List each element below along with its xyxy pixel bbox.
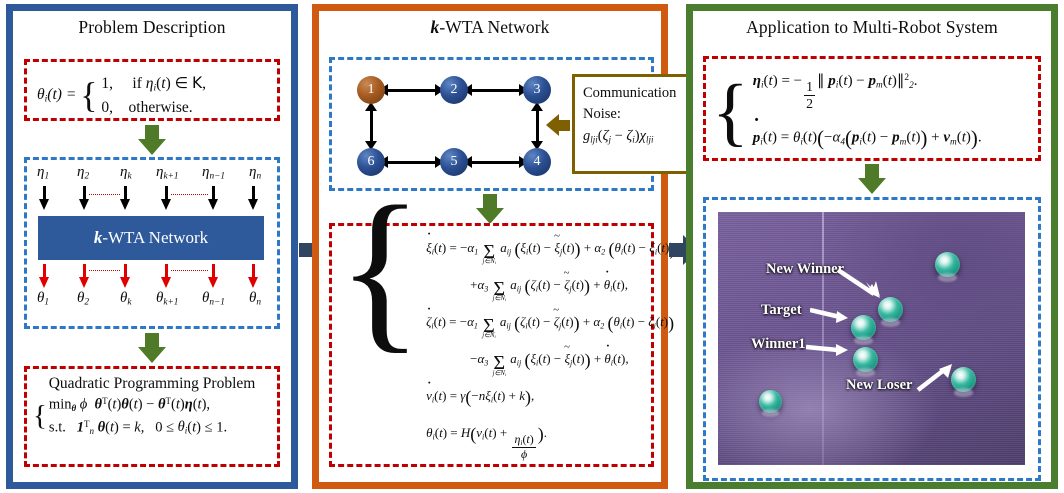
pointer-arrow-target xyxy=(810,306,854,326)
figure-canvas: Problem Description θi(t) = { 1, if ηi(t… xyxy=(0,0,1064,493)
input-dots-2 xyxy=(171,194,208,195)
dynamics-eq-2b: −α3 Σj∈Ni aij (ξi(t) − ξj(t)) + θi(t), xyxy=(470,347,675,377)
input-symbol-5: ηn−1 xyxy=(202,164,225,182)
photo-label-new-winner: New Winner xyxy=(766,261,844,278)
application-eq-1: ηi(t) = −12∥ pi(t) − pm(t)∥22. xyxy=(753,69,982,111)
output-symbol-6: θn xyxy=(249,290,261,308)
photo-label-winner1: Winner1 xyxy=(751,336,806,353)
panel-kwta-network: k-WTA Network 1 xyxy=(312,4,668,489)
theta-case-2: 0, otherwise. xyxy=(101,99,206,117)
edge-2-3 xyxy=(469,89,522,92)
output-symbol-2: θ2 xyxy=(77,290,89,308)
input-symbol-1: η1 xyxy=(37,164,49,182)
input-arrow-6 xyxy=(248,186,259,210)
input-arrow-1 xyxy=(39,186,50,210)
qp-objective: minθ ϕ θT(t)θ(t) − θT(t)η(t), xyxy=(49,396,227,414)
noise-formula: glji(ζj − ζi)χlji xyxy=(583,128,699,145)
flow-arrow-down-1 xyxy=(138,125,166,155)
input-arrow-5 xyxy=(208,186,219,210)
input-symbol-6: ηn xyxy=(249,164,261,182)
photo-label-target: Target xyxy=(761,302,802,319)
dynamics-eq-2: ζi(t) = −α1 Σj∈Ni aij (ζi(t) − ζj(t)) + … xyxy=(426,310,675,340)
kwta-block-label: k-WTA Network xyxy=(94,228,208,248)
panel-network-title: k-WTA Network xyxy=(319,17,661,38)
application-brace-icon: { xyxy=(712,93,749,131)
edge-1-2 xyxy=(385,89,438,92)
robot-top-right xyxy=(935,252,960,277)
theta-case-1: 1, if ηi(t) ∈ 𝖪, xyxy=(101,74,206,94)
theta-definition-box: θi(t) = { 1, if ηi(t) ∈ 𝖪, 0, otherwise. xyxy=(24,59,280,121)
edge-6-5 xyxy=(385,161,438,164)
robot-bottom-left xyxy=(759,390,782,413)
graph-node-3[interactable]: 3 xyxy=(523,76,551,104)
application-equations-box: { ηi(t) = −12∥ pi(t) − pm(t)∥22. pi(t) =… xyxy=(703,56,1041,161)
photo-label-new-loser: New Loser xyxy=(846,377,912,394)
robot-experiment-box: New Winner Target Winner1 New Loser xyxy=(703,197,1041,481)
qp-problem-box: Quadratic Programming Problem { minθ ϕ θ… xyxy=(24,366,280,467)
noise-injection-arrow xyxy=(546,114,570,136)
flow-arrow-down-4 xyxy=(858,164,886,194)
network-dynamics-box: { ξi(t) = −α1 Σj∈Ni aij (ξi(t) − ξj(t)) … xyxy=(329,223,654,467)
communication-noise-box: Communication Noise: glji(ζj − ζi)χlji xyxy=(572,74,702,174)
dynamics-brace-icon: { xyxy=(337,230,423,309)
pointer-arrow-new-loser xyxy=(916,362,958,394)
pointer-arrow-new-winner xyxy=(836,266,886,304)
kwta-network-box: η1 η2 ηk ηk+1 ηn−1 ηn k-WTA Network xyxy=(24,157,280,329)
dynamics-eq-1: ξi(t) = −α1 Σj∈Ni aij (ξi(t) − ξj(t)) + … xyxy=(426,236,675,266)
kwta-block: k-WTA Network xyxy=(38,216,264,260)
output-symbol-4: θk+1 xyxy=(156,290,178,308)
panel-problem-title: Problem Description xyxy=(13,17,291,38)
edge-1-6 xyxy=(370,108,373,144)
input-symbol-4: ηk+1 xyxy=(156,164,179,182)
noise-line-2: Noise: xyxy=(583,106,699,123)
dynamics-eq-4: θi(t) = H(νi(t) + ηi(t)ϕ). xyxy=(426,418,675,461)
panel-problem-description: Problem Description θi(t) = { 1, if ηi(t… xyxy=(6,4,298,489)
input-arrow-2 xyxy=(79,186,90,210)
application-eq-2: pi(t) = θi(t)(−α4(pi(t) − pm(t)) + vm(t)… xyxy=(753,123,982,156)
input-symbol-2: η2 xyxy=(77,164,89,182)
qp-constraint: s.t. 1Tn θ(t) = k, 0 ≤ θi(t) ≤ 1. xyxy=(49,419,227,437)
output-arrow-6 xyxy=(248,264,259,288)
edge-5-4 xyxy=(469,161,522,164)
qp-brace-icon: { xyxy=(33,405,47,428)
input-arrow-3 xyxy=(120,186,131,210)
brace-icon: { xyxy=(80,81,97,110)
graph-node-2[interactable]: 2 xyxy=(440,76,468,104)
graph-node-4[interactable]: 4 xyxy=(523,148,551,176)
robot-winner1 xyxy=(853,347,878,372)
output-symbol-1: θ1 xyxy=(37,290,49,308)
dynamics-eq-3: νi(t) = γ(−nξi(t) + k), xyxy=(426,384,675,411)
flow-arrow-down-2 xyxy=(138,333,166,363)
input-dots-1 xyxy=(89,194,120,195)
output-dots-2 xyxy=(171,270,208,271)
theta-definition-lhs: θi(t) = xyxy=(37,86,76,105)
edge-3-4 xyxy=(536,108,539,144)
input-symbol-3: ηk xyxy=(120,164,132,182)
flow-arrow-down-3 xyxy=(476,194,504,224)
output-arrow-1 xyxy=(39,264,50,288)
robot-experiment-photo: New Winner Target Winner1 New Loser xyxy=(718,212,1025,465)
noise-line-1: Communication xyxy=(583,85,699,102)
output-arrow-2 xyxy=(79,264,90,288)
pointer-arrow-winner1 xyxy=(806,340,854,360)
output-dots-1 xyxy=(89,270,120,271)
panel-application: Application to Multi-Robot System { ηi(t… xyxy=(686,4,1058,489)
output-arrow-3 xyxy=(120,264,131,288)
output-arrow-5 xyxy=(208,264,219,288)
qp-heading: Quadratic Programming Problem xyxy=(27,375,277,393)
input-arrow-4 xyxy=(161,186,172,210)
robot-target xyxy=(851,315,876,340)
graph-node-5[interactable]: 5 xyxy=(440,148,468,176)
panel-application-title: Application to Multi-Robot System xyxy=(693,17,1051,38)
graph-node-1[interactable]: 1 xyxy=(357,76,385,104)
output-symbol-3: θk xyxy=(120,290,132,308)
panel-network-title-rest: -WTA Network xyxy=(439,17,549,37)
dynamics-eq-1b: +α3 Σj∈Ni aij (ζi(t) − ζj(t)) + θi(t), xyxy=(470,273,675,303)
output-arrow-4 xyxy=(161,264,172,288)
output-symbol-5: θn−1 xyxy=(202,290,225,308)
photo-seam xyxy=(822,212,824,465)
